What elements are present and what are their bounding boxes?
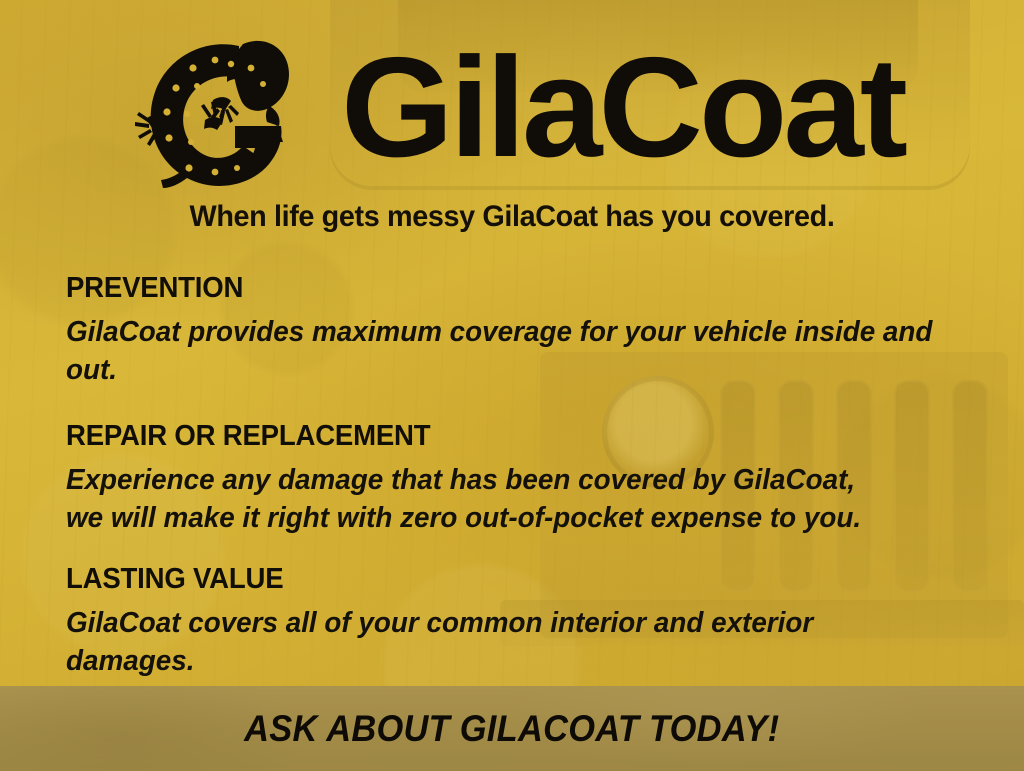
- gila-monster-lizard-g-icon: [131, 22, 327, 194]
- section-body-line: we will make it right with zero out-of-p…: [66, 499, 940, 537]
- section-heading: LASTING VALUE: [66, 563, 931, 596]
- gilacoat-marketing-poster: GilaCoat When life gets messy GilaCoat h…: [0, 0, 1024, 771]
- brand-wordmark: GilaCoat: [341, 37, 904, 179]
- footer-cta-bar: ASK ABOUT GILACOAT TODAY!: [0, 686, 1024, 771]
- benefit-section-prevention: PREVENTION GilaCoat provides maximum cov…: [66, 272, 976, 390]
- section-body: Experience any damage that has been cove…: [66, 461, 940, 538]
- section-body-line: Experience any damage that has been cove…: [66, 461, 940, 499]
- benefit-section-repair-or-replacement: REPAIR OR REPLACEMENT Experience any dam…: [66, 420, 976, 538]
- section-body: GilaCoat provides maximum coverage for y…: [66, 313, 940, 390]
- brand-tagline: When life gets messy GilaCoat has you co…: [20, 200, 1003, 234]
- section-body: GilaCoat covers all of your common inter…: [66, 604, 940, 681]
- benefits-list: PREVENTION GilaCoat provides maximum cov…: [66, 272, 976, 711]
- benefit-section-lasting-value: LASTING VALUE GilaCoat covers all of you…: [66, 563, 976, 681]
- section-heading: REPAIR OR REPLACEMENT: [66, 420, 931, 453]
- poster-content: GilaCoat When life gets messy GilaCoat h…: [0, 0, 1024, 771]
- section-heading: PREVENTION: [66, 272, 931, 305]
- brand-logo-row: GilaCoat: [0, 22, 1024, 194]
- section-body-line: GilaCoat covers all of your common inter…: [66, 604, 940, 681]
- section-body-line: GilaCoat provides maximum coverage for y…: [66, 313, 940, 390]
- footer-cta-text: ASK ABOUT GILACOAT TODAY!: [244, 708, 779, 750]
